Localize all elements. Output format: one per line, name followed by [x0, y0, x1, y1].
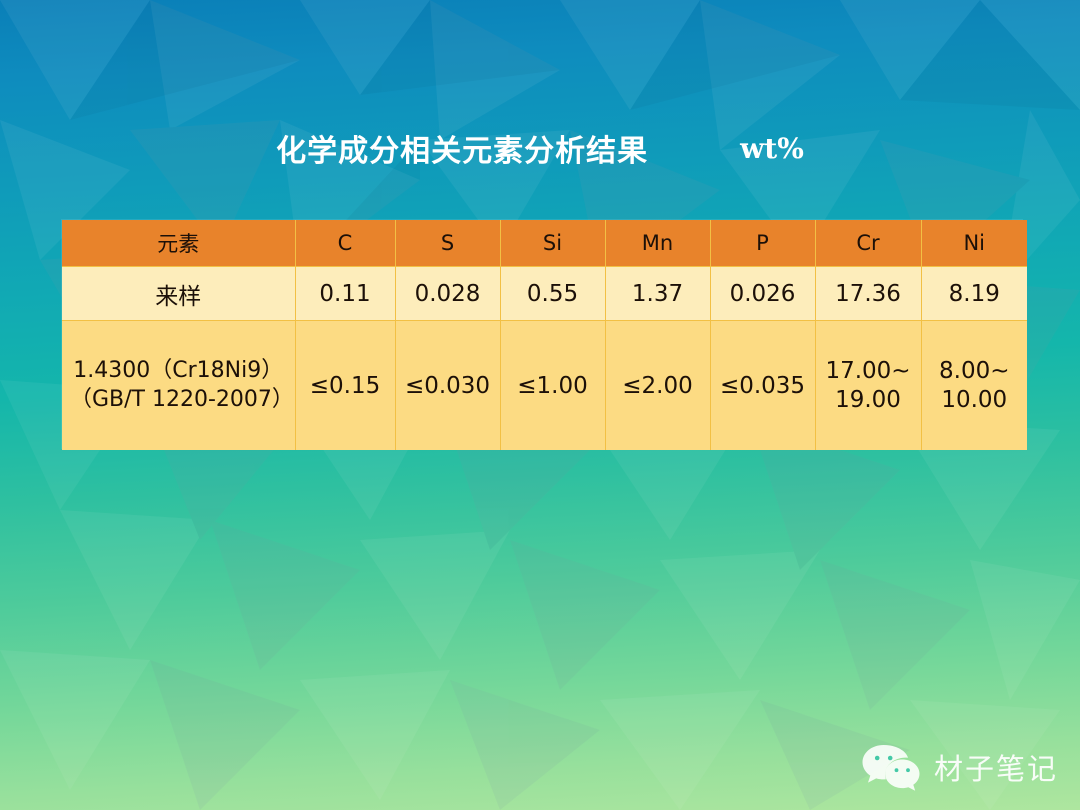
cr-range-line2: 19.00	[835, 387, 901, 413]
cell-standard-ni: 8.00~ 10.00	[921, 321, 1027, 451]
cell-sample-cr: 17.36	[815, 267, 921, 321]
cell-sample-ni: 8.19	[921, 267, 1027, 321]
title-unit-label: wt%	[740, 132, 804, 165]
table-header-row: 元素 C S Si Mn P Cr Ni	[62, 220, 1027, 267]
table-body: 来样 0.11 0.028 0.55 1.37 0.026 17.36 8.19…	[62, 267, 1027, 451]
watermark: 材子笔记	[860, 742, 1058, 792]
cell-sample-p: 0.026	[710, 267, 815, 321]
column-header-cr: Cr	[815, 220, 921, 267]
cell-standard-si: ≤1.00	[500, 321, 605, 451]
column-header-c: C	[295, 220, 395, 267]
table-header: 元素 C S Si Mn P Cr Ni	[62, 220, 1027, 267]
cr-range-line1: 17.00~	[825, 358, 910, 384]
composition-table: 元素 C S Si Mn P Cr Ni 来样 0.11 0.028 0.55 …	[62, 220, 1027, 450]
table-row: 1.4300（Cr18Ni9） （GB/T 1220-2007） ≤0.15 ≤…	[62, 321, 1027, 451]
ni-range-line1: 8.00~	[939, 358, 1009, 384]
row-label-sample: 来样	[62, 267, 295, 321]
column-header-p: P	[710, 220, 815, 267]
watermark-text: 材子笔记	[934, 746, 1058, 788]
cr-range: 17.00~ 19.00	[825, 357, 910, 413]
column-header-s: S	[395, 220, 500, 267]
cell-standard-s: ≤0.030	[395, 321, 500, 451]
slide-title-row: 化学成分相关元素分析结果wt%	[0, 126, 1080, 170]
column-header-mn: Mn	[605, 220, 710, 267]
table-row: 来样 0.11 0.028 0.55 1.37 0.026 17.36 8.19	[62, 267, 1027, 321]
ni-range: 8.00~ 10.00	[939, 357, 1009, 413]
cell-standard-mn: ≤2.00	[605, 321, 710, 451]
column-header-ni: Ni	[921, 220, 1027, 267]
cell-standard-p: ≤0.035	[710, 321, 815, 451]
slide-canvas: 化学成分相关元素分析结果wt% 元素 C S Si Mn	[0, 0, 1080, 810]
cell-sample-s: 0.028	[395, 267, 500, 321]
column-header-si: Si	[500, 220, 605, 267]
cell-sample-si: 0.55	[500, 267, 605, 321]
row-label-standard: 1.4300（Cr18Ni9） （GB/T 1220-2007）	[62, 321, 295, 451]
cell-sample-c: 0.11	[295, 267, 395, 321]
wechat-icon	[860, 742, 922, 792]
standard-label-line2: （GB/T 1220-2007）	[70, 386, 287, 414]
cell-standard-c: ≤0.15	[295, 321, 395, 451]
cell-sample-mn: 1.37	[605, 267, 710, 321]
ni-range-line2: 10.00	[941, 387, 1007, 413]
cell-standard-cr: 17.00~ 19.00	[815, 321, 921, 451]
page-title: 化学成分相关元素分析结果	[276, 134, 648, 169]
standard-label-line1: 1.4300（Cr18Ni9）	[70, 357, 287, 385]
composition-table-wrapper: 元素 C S Si Mn P Cr Ni 来样 0.11 0.028 0.55 …	[62, 220, 1022, 448]
column-header-element: 元素	[62, 220, 295, 267]
